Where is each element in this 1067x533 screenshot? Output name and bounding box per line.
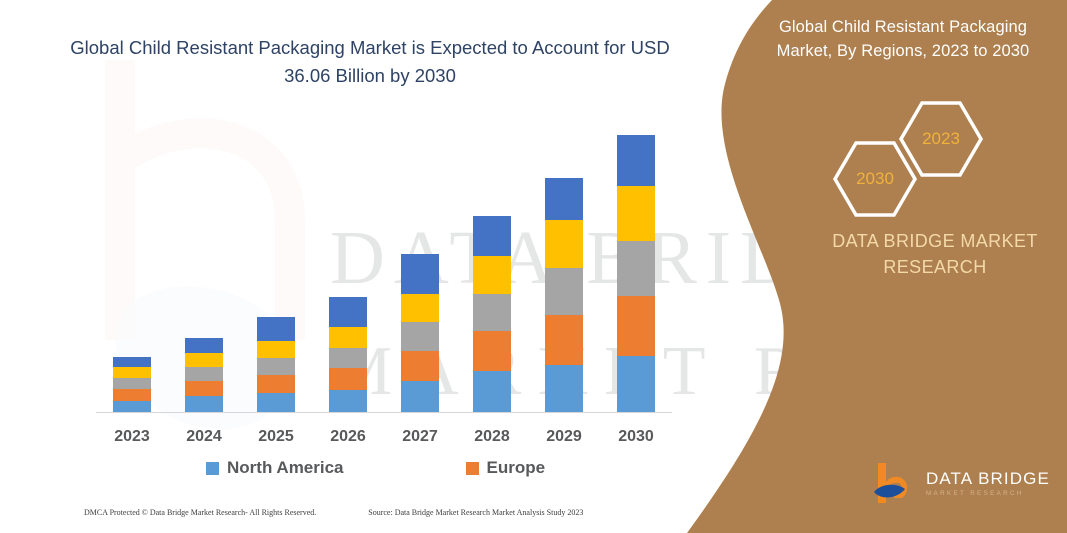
right-panel-title: Global Child Resistant Packaging Market,… [753,16,1053,64]
bar-segment [257,317,295,341]
bar-segment [401,294,439,322]
bar-segment [545,365,583,413]
data-bridge-logo: DATA BRIDGE MARKET RESEARCH [872,462,1050,506]
bar-segment [545,315,583,365]
x-tick-2030: 2030 [600,428,672,446]
infographic-root: DATA BRIDGE MARKET RESEARCH Global Child… [0,0,1067,533]
bar-segment [329,297,367,327]
bar-segment [617,356,655,413]
bar-segment [329,327,367,348]
bar-segment [473,371,511,413]
brand-name-text: DATA BRIDGE MARKET RESEARCH [810,228,1060,280]
bar-segment [185,381,223,396]
bar-segment [545,268,583,315]
bar-2026[interactable] [329,297,367,413]
brand-line-1: DATA BRIDGE MARKET [810,228,1060,254]
bar-segment [113,378,151,389]
bar-segment [113,357,151,367]
logo-title: DATA BRIDGE [926,470,1050,487]
bar-segment [185,338,223,353]
bar-segment [113,367,151,378]
x-tick-2024: 2024 [168,428,240,446]
x-tick-2028: 2028 [456,428,528,446]
bar-2023[interactable] [113,357,151,413]
brand-line-2: RESEARCH [810,254,1060,280]
bar-segment [329,390,367,413]
bar-segment [401,322,439,351]
page-title: Global Child Resistant Packaging Market … [60,34,680,90]
hexagon-2023: 2023 [898,100,984,178]
bar-segment [617,296,655,356]
legend-item-north-america[interactable]: North America [206,458,344,478]
bar-segment [473,216,511,256]
bar-segment [473,294,511,331]
logo-subtitle: MARKET RESEARCH [926,491,1050,497]
stacked-bar-chart [96,120,672,413]
x-tick-2025: 2025 [240,428,312,446]
bar-2029[interactable] [545,178,583,413]
bar-segment [545,178,583,220]
bar-segment [329,368,367,390]
bar-2024[interactable] [185,338,223,413]
bar-2025[interactable] [257,317,295,413]
bar-segment [257,393,295,413]
bar-2028[interactable] [473,216,511,413]
chart-legend: North America Europe [96,456,672,480]
x-tick-2023: 2023 [96,428,168,446]
footer-source: Source: Data Bridge Market Research Mark… [368,508,583,517]
bar-segment [401,351,439,381]
bar-2027[interactable] [401,254,439,413]
bar-segment [185,353,223,367]
x-tick-2026: 2026 [312,428,384,446]
bar-segment [185,396,223,413]
bar-2030[interactable] [617,135,655,413]
bar-segment [545,220,583,268]
data-bridge-logo-mark [872,462,918,506]
legend-swatch-north-america [206,462,219,475]
bar-segment [329,348,367,368]
x-axis-tick-labels: 20232024202520262027202820292030 [96,428,672,452]
bar-segment [257,341,295,358]
bar-segment [617,241,655,296]
footer: DMCA Protected © Data Bridge Market Rese… [84,508,684,517]
x-tick-2029: 2029 [528,428,600,446]
x-tick-2027: 2027 [384,428,456,446]
legend-item-europe[interactable]: Europe [466,458,546,478]
hexagon-2023-label: 2023 [898,100,984,178]
footer-dmca: DMCA Protected © Data Bridge Market Rese… [84,508,316,517]
bar-segment [257,375,295,393]
data-bridge-logo-words: DATA BRIDGE MARKET RESEARCH [926,470,1050,497]
bar-segment [473,331,511,371]
legend-swatch-europe [466,462,479,475]
legend-label-north-america: North America [227,458,344,478]
bar-segment [617,186,655,241]
legend-label-europe: Europe [487,458,546,478]
bar-segment [473,256,511,294]
bar-segment [257,358,295,375]
bar-segment [113,389,151,401]
bar-segment [401,381,439,413]
x-axis-line [96,412,672,413]
bar-segment [401,254,439,294]
bar-segment [617,135,655,186]
bar-segment [185,367,223,381]
